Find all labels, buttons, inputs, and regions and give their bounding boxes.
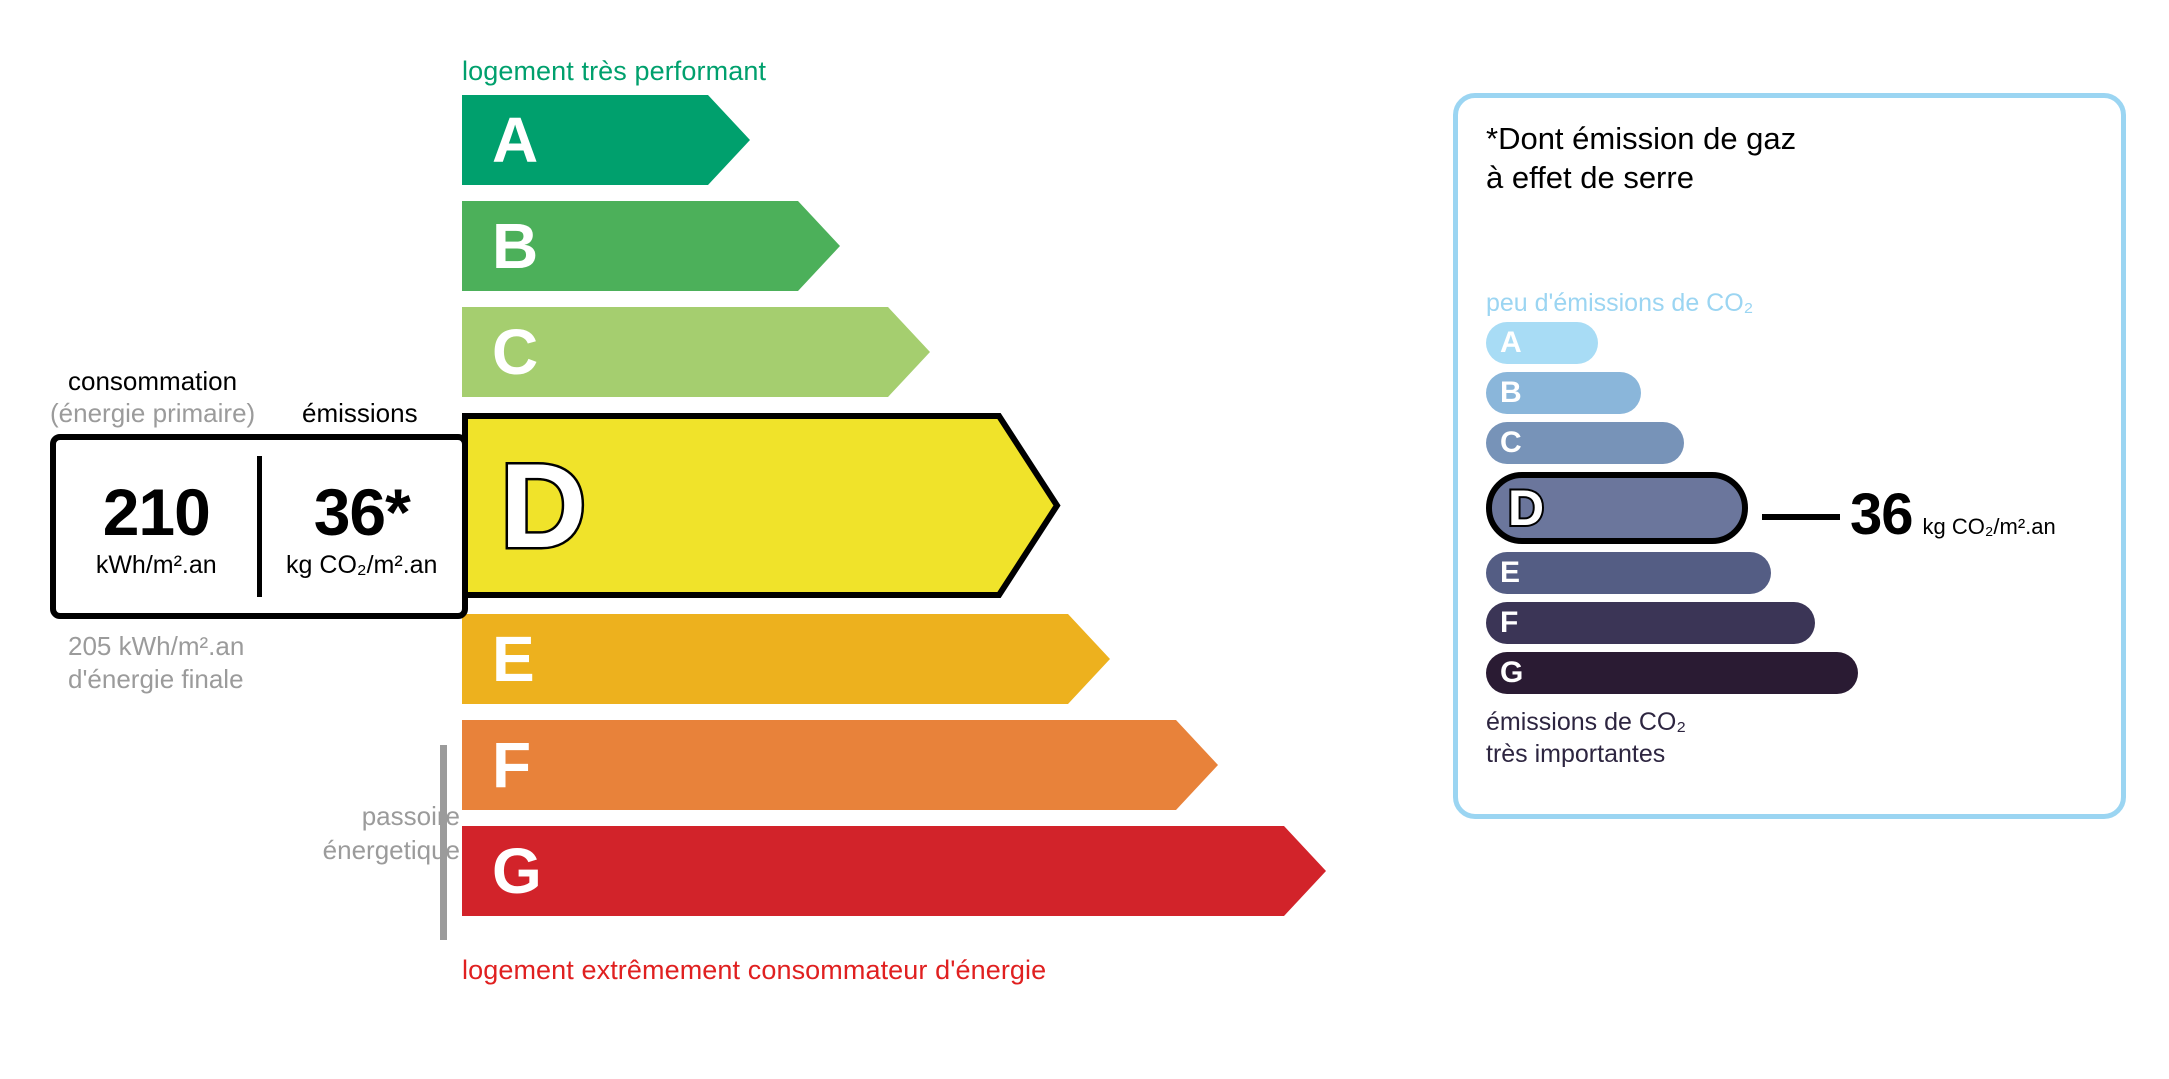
energy-arrow-b xyxy=(462,201,840,291)
co2-class-row-a[interactable]: A xyxy=(1486,322,2106,364)
energy-class-row-d[interactable]: D xyxy=(462,413,1362,598)
energy-class-row-f[interactable]: F xyxy=(462,720,1362,810)
final-energy-note: 205 kWh/m².an d'énergie finale xyxy=(68,630,244,697)
co2-bottom-caption: émissions de CO₂ très importantes xyxy=(1486,706,1686,770)
final-energy-line2: d'énergie finale xyxy=(68,663,244,696)
energy-class-row-g[interactable]: G xyxy=(462,826,1362,916)
energy-class-row-e[interactable]: E xyxy=(462,614,1362,704)
consumption-header-label: consommation xyxy=(68,366,237,397)
energy-arrow-d xyxy=(462,413,1060,598)
energy-arrow-g xyxy=(462,826,1326,916)
co2-panel-title: *Dont émission de gaz à effet de serre xyxy=(1486,119,1796,197)
co2-class-row-c[interactable]: C xyxy=(1486,422,2106,464)
energy-performance-panel: logement très performant ABCDEFG logemen… xyxy=(0,0,1380,1079)
co2-bar-e xyxy=(1486,552,1771,594)
co2-class-letter-c: C xyxy=(1500,428,1522,458)
energy-class-arrow-stack: ABCDEFG xyxy=(462,95,1362,932)
passoire-label: passoire énergetique xyxy=(280,800,460,868)
emissions-value: 36* xyxy=(314,479,410,545)
final-energy-line1: 205 kWh/m².an xyxy=(68,630,244,663)
energy-bottom-caption: logement extrêmement consommateur d'éner… xyxy=(462,955,1046,986)
co2-value-callout: 36 kg CO₂/m².an xyxy=(1762,486,2056,544)
energy-class-row-c[interactable]: C xyxy=(462,307,1362,397)
dpe-energy-label: logement très performant ABCDEFG logemen… xyxy=(0,0,2169,1079)
energy-arrow-e xyxy=(462,614,1110,704)
energy-arrow-a xyxy=(462,95,750,185)
energy-arrow-f xyxy=(462,720,1218,810)
energy-arrow-c xyxy=(462,307,930,397)
consumption-header-sublabel: (énergie primaire) xyxy=(50,398,255,429)
co2-top-caption: peu d'émissions de CO₂ xyxy=(1486,289,1753,318)
passoire-line1: passoire xyxy=(280,800,460,834)
energy-class-row-a[interactable]: A xyxy=(462,95,1362,185)
energy-top-caption: logement très performant xyxy=(462,56,766,87)
co2-class-letter-e: E xyxy=(1500,558,1520,588)
callout-leader-line xyxy=(1762,514,1840,520)
co2-class-row-b[interactable]: B xyxy=(1486,372,2106,414)
primary-energy-unit: kWh/m².an xyxy=(96,551,217,580)
co2-emissions-panel: *Dont émission de gaz à effet de serre p… xyxy=(1453,93,2126,819)
co2-class-letter-g: G xyxy=(1500,658,1523,688)
co2-bottom-line2: très importantes xyxy=(1486,738,1686,770)
co2-bar-g xyxy=(1486,652,1858,694)
primary-energy-value: 210 xyxy=(103,479,210,545)
co2-class-row-e[interactable]: E xyxy=(1486,552,2106,594)
co2-class-row-g[interactable]: G xyxy=(1486,652,2106,694)
co2-bar-f xyxy=(1486,602,1815,644)
primary-energy-cell: 210 kWh/m².an xyxy=(56,440,257,613)
co2-title-line1: *Dont émission de gaz xyxy=(1486,119,1796,158)
co2-class-letter-b: B xyxy=(1500,378,1522,408)
co2-callout-value: 36 xyxy=(1850,486,1913,544)
co2-title-line2: à effet de serre xyxy=(1486,158,1796,197)
co2-class-letter-f: F xyxy=(1500,608,1518,638)
emissions-cell: 36* kg CO₂/m².an xyxy=(262,440,463,613)
co2-callout-unit: kg CO₂/m².an xyxy=(1923,514,2056,540)
energy-class-row-b[interactable]: B xyxy=(462,201,1362,291)
emissions-unit: kg CO₂/m².an xyxy=(286,551,437,580)
co2-class-letter-a: A xyxy=(1500,328,1522,358)
passoire-line2: énergetique xyxy=(280,834,460,868)
emissions-header-label: émissions xyxy=(302,398,418,429)
co2-bottom-line1: émissions de CO₂ xyxy=(1486,706,1686,738)
value-box: 210 kWh/m².an 36* kg CO₂/m².an xyxy=(50,434,468,619)
co2-class-letter-d: D xyxy=(1508,483,1544,533)
co2-class-row-f[interactable]: F xyxy=(1486,602,2106,644)
